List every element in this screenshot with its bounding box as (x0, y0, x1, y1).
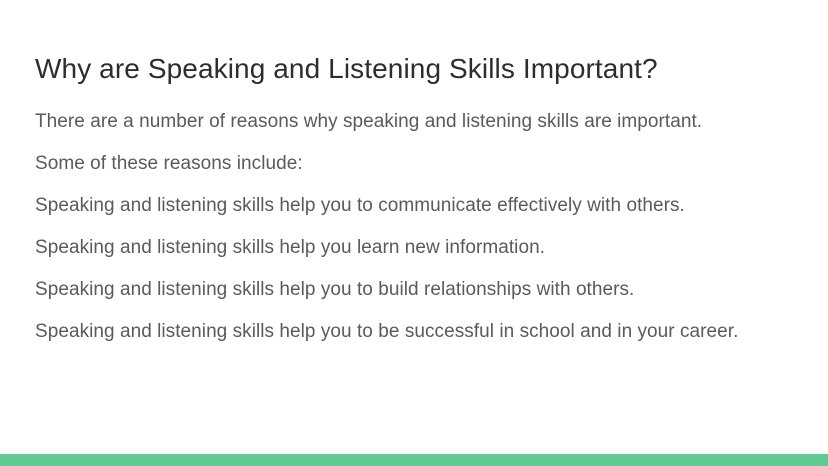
body-paragraph-lead-in: Some of these reasons include: (35, 154, 738, 196)
body-paragraph-reason-1: Speaking and listening skills help you t… (35, 196, 738, 238)
body-paragraph-reason-4: Speaking and listening skills help you t… (35, 322, 738, 364)
page-title: Why are Speaking and Listening Skills Im… (35, 52, 658, 86)
body-paragraph-reason-2: Speaking and listening skills help you l… (35, 238, 738, 280)
slide-canvas: Why are Speaking and Listening Skills Im… (0, 0, 828, 466)
body-text-block: There are a number of reasons why speaki… (35, 112, 738, 364)
footer-accent-bar (0, 454, 828, 466)
body-paragraph-intro: There are a number of reasons why speaki… (35, 112, 738, 154)
body-paragraph-reason-3: Speaking and listening skills help you t… (35, 280, 738, 322)
